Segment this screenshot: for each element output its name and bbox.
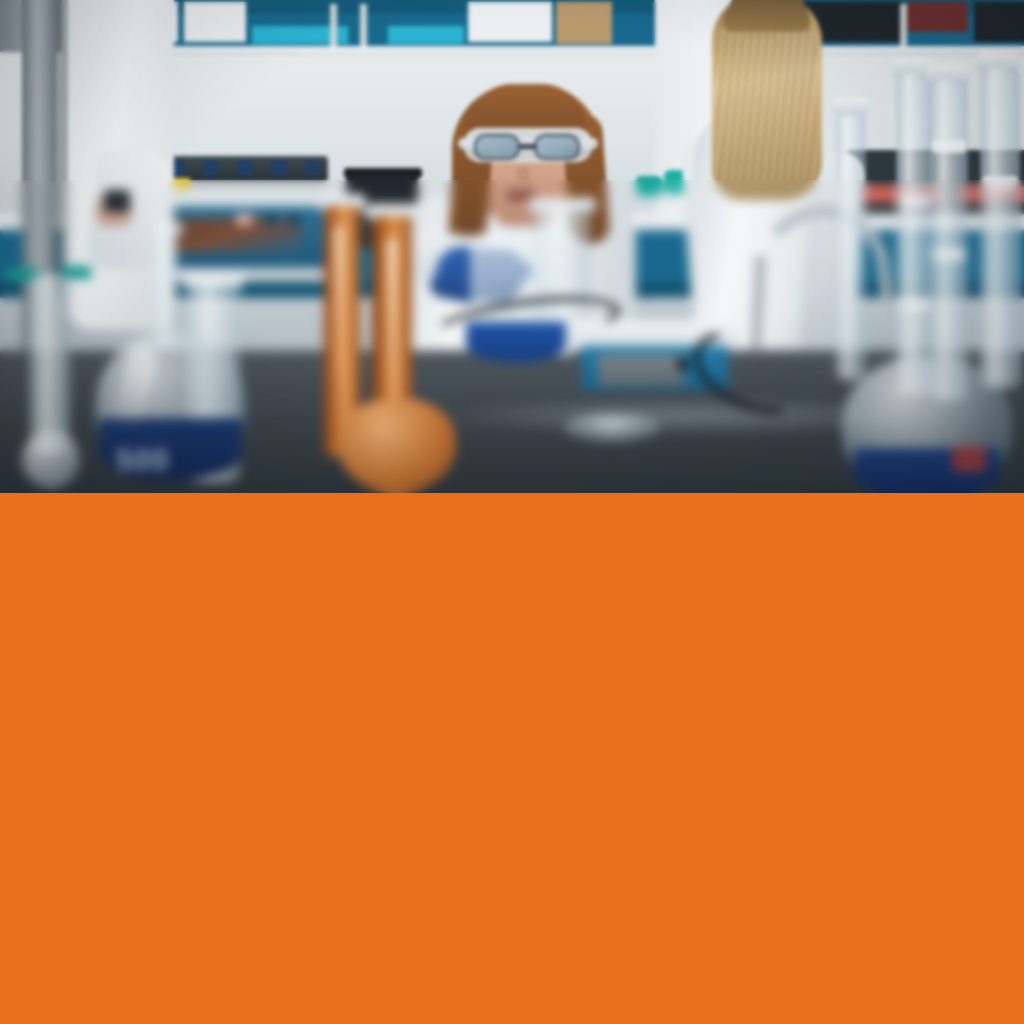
headline: THERE IS A FINE LINE BETWEEN PASSION AND… bbox=[75, 1017, 975, 1024]
social-card: 500 THERE IS A F bbox=[0, 0, 1024, 1024]
lab-photo: 500 bbox=[0, 0, 1024, 493]
headline-line-1: THERE IS A FINE LINE bbox=[75, 1017, 975, 1024]
photo-vignette bbox=[0, 0, 1024, 493]
orange-message-panel: THERE IS A FINE LINE BETWEEN PASSION AND… bbox=[0, 493, 1024, 1024]
